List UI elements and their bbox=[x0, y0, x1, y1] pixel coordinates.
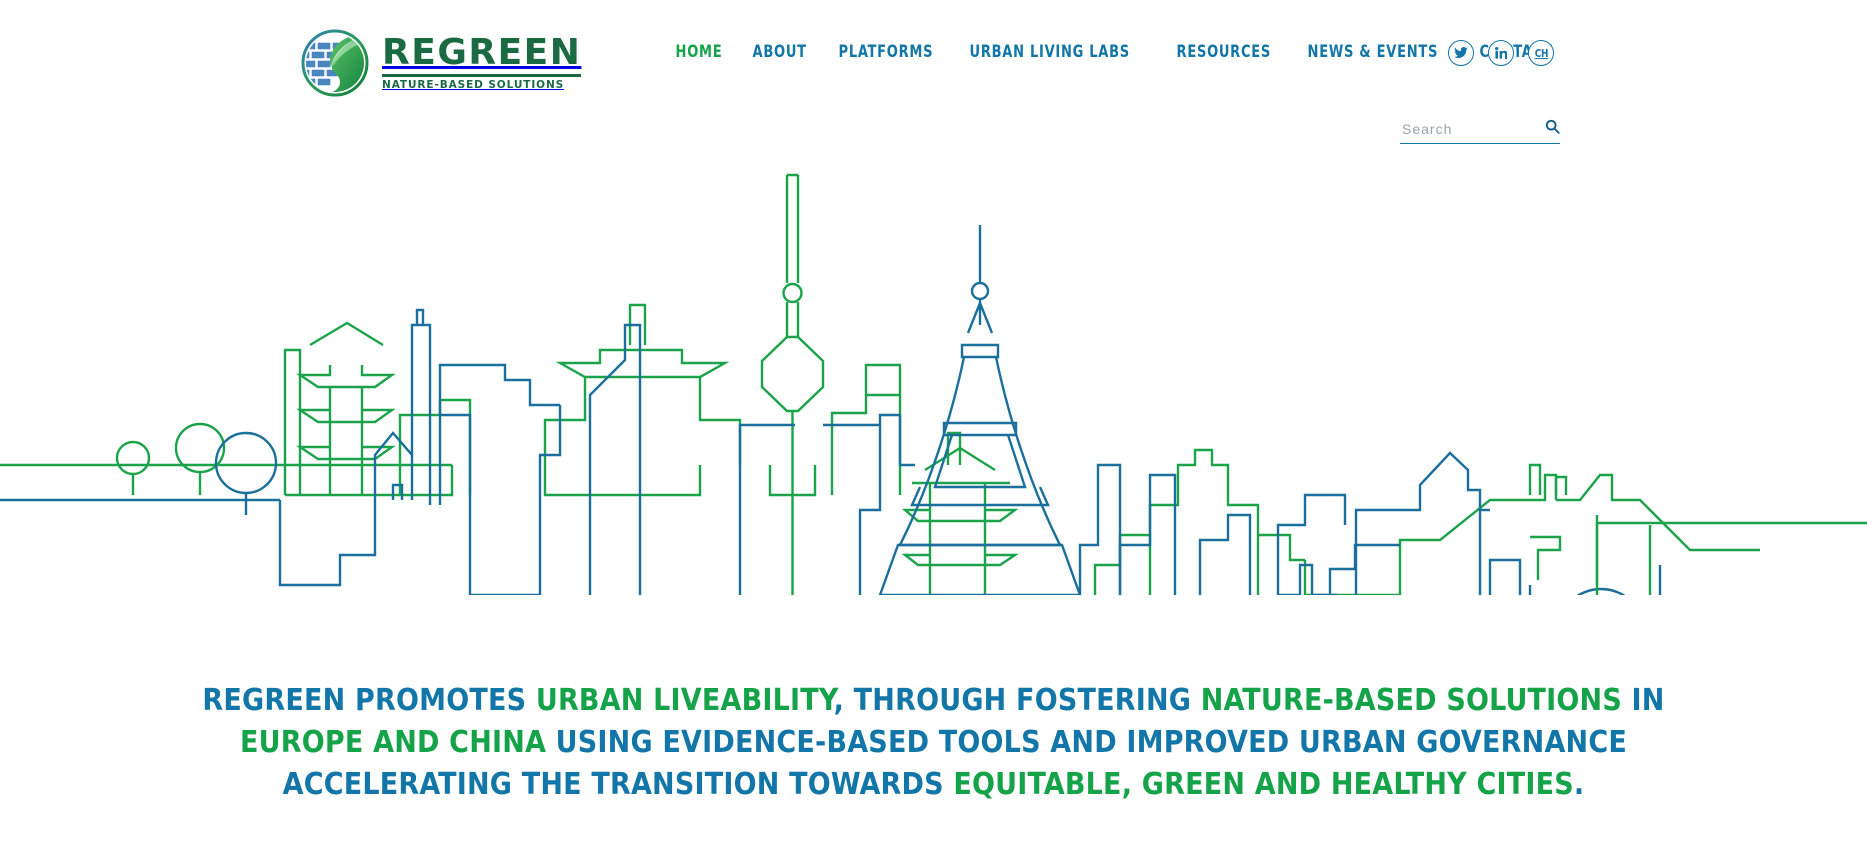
nav-item-about[interactable]: ABOUT bbox=[742, 42, 817, 61]
search-bar bbox=[1400, 118, 1560, 144]
tagline-line-1: REGREEN PROMOTES URBAN LIVEABILITY, THRO… bbox=[0, 680, 1867, 722]
tagline-seg: USING EVIDENCE-BASED TOOLS AND IMPROVED … bbox=[546, 725, 1627, 760]
search-icon[interactable] bbox=[1545, 119, 1560, 142]
nav-item-home[interactable]: HOME bbox=[665, 42, 733, 61]
hero-tagline: REGREEN PROMOTES URBAN LIVEABILITY, THRO… bbox=[0, 680, 1867, 806]
tagline-seg-highlight: EQUITABLE, GREEN AND HEALTHY CITIES bbox=[953, 767, 1573, 802]
tagline-seg: IN bbox=[1622, 683, 1665, 718]
logo-title: REGREEN bbox=[382, 35, 581, 72]
tagline-line-2: EUROPE AND CHINA USING EVIDENCE-BASED TO… bbox=[0, 722, 1867, 764]
nav-item-platforms[interactable]: PLATFORMS bbox=[828, 42, 944, 61]
nav-item-resources[interactable]: RESOURCES bbox=[1166, 42, 1282, 61]
site-header: REGREEN NATURE-BASED SOLUTIONS HOME ABOU… bbox=[0, 0, 1867, 170]
social-links: CH bbox=[1448, 40, 1554, 66]
tagline-seg: . bbox=[1574, 767, 1584, 802]
tagline-seg: ACCELERATING THE TRANSITION TOWARDS bbox=[283, 767, 954, 802]
chinese-language-label: CH bbox=[1534, 47, 1547, 60]
search-input[interactable] bbox=[1400, 121, 1520, 140]
tagline-line-3: ACCELERATING THE TRANSITION TOWARDS EQUI… bbox=[0, 764, 1867, 806]
tagline-seg-highlight: EUROPE AND CHINA bbox=[240, 725, 546, 760]
regreen-globe-leaf-logo-icon bbox=[300, 28, 370, 98]
tagline-seg-highlight: NATURE-BASED SOLUTIONS bbox=[1201, 683, 1622, 718]
main-navigation: HOME ABOUT PLATFORMS URBAN LIVING LABS R… bbox=[665, 42, 1576, 61]
tagline-seg-highlight: URBAN LIVEABILITY bbox=[536, 683, 834, 718]
twitter-icon[interactable] bbox=[1448, 40, 1474, 66]
logo-subtitle: NATURE-BASED SOLUTIONS bbox=[382, 79, 581, 91]
tagline-seg: REGREEN PROMOTES bbox=[202, 683, 535, 718]
site-logo[interactable]: REGREEN NATURE-BASED SOLUTIONS bbox=[300, 28, 581, 98]
nav-item-news-events[interactable]: NEWS & EVENTS bbox=[1297, 42, 1449, 61]
linkedin-icon[interactable] bbox=[1488, 40, 1514, 66]
city-skyline-line-art-icon bbox=[0, 165, 1867, 595]
tagline-seg: , THROUGH FOSTERING bbox=[834, 683, 1201, 718]
hero-skyline-illustration bbox=[0, 165, 1867, 595]
nav-item-urban-living-labs[interactable]: URBAN LIVING LABS bbox=[959, 42, 1140, 61]
logo-divider bbox=[382, 74, 581, 77]
chinese-language-icon[interactable]: CH bbox=[1528, 40, 1554, 66]
